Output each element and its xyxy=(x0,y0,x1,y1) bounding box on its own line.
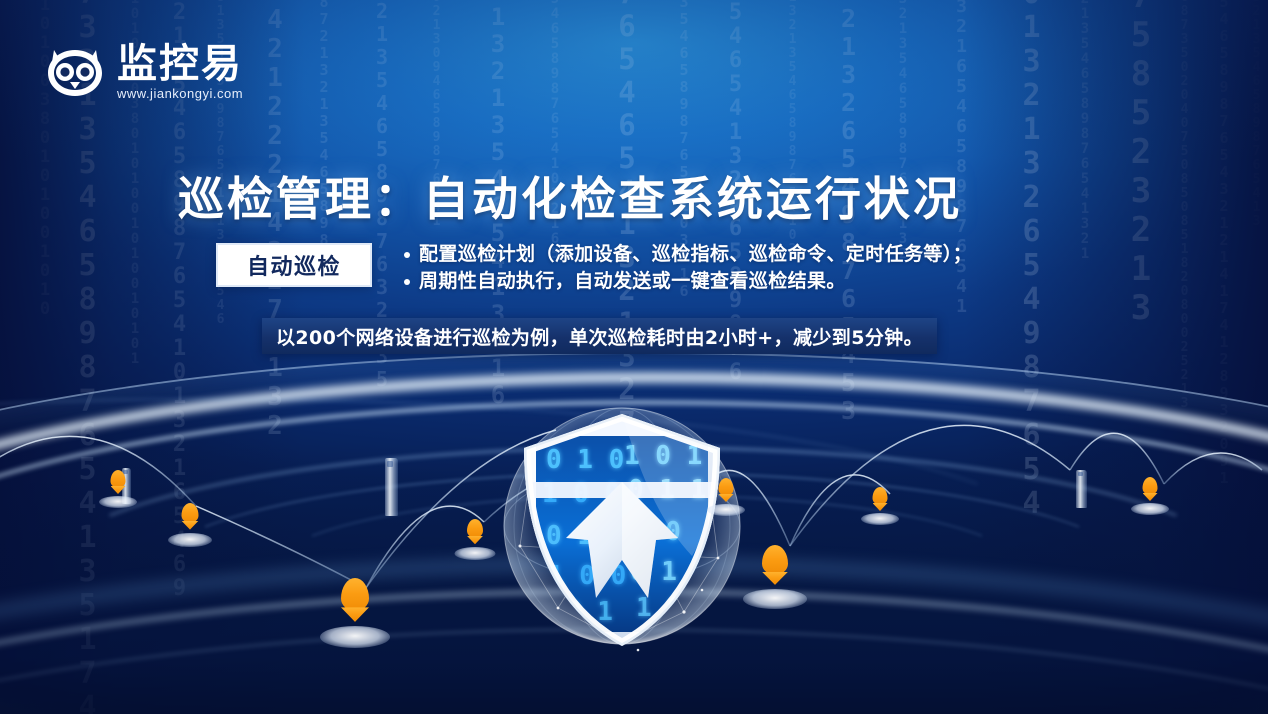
bullet-dot-icon xyxy=(404,279,410,285)
server-pillar-1 xyxy=(122,468,131,504)
pin-base-glow xyxy=(99,496,137,508)
map-pin-2 xyxy=(168,503,212,547)
feature-bullet-item: 配置巡检计划（添加设备、巡检指标、巡检命令、定时任务等）； xyxy=(404,241,972,268)
pin-marker-icon xyxy=(762,545,788,575)
pin-base-glow xyxy=(743,589,807,609)
brand-logo[interactable]: 监控易 www.jiankongyi.com xyxy=(44,44,243,101)
owl-face-icon xyxy=(44,44,106,100)
pin-base-glow xyxy=(168,533,212,547)
logo-website-url: www.jiankongyi.com xyxy=(117,86,243,101)
map-pin-1 xyxy=(99,470,137,508)
map-pin-7 xyxy=(861,487,899,525)
highlight-banner: 以200个网络设备进行巡检为例，单次巡检耗时由2小时+，减少到5分钟。 xyxy=(262,318,937,354)
server-pillar-2 xyxy=(385,458,398,516)
map-pin-8 xyxy=(1131,477,1169,515)
server-pillar-3 xyxy=(1076,470,1087,508)
feature-badge: 自动巡检 xyxy=(216,243,372,287)
pin-base-glow xyxy=(861,513,899,525)
map-pin-3 xyxy=(320,578,390,648)
page-title: 巡检管理：自动化检查系统运行状况 xyxy=(178,163,962,229)
pin-marker-icon xyxy=(873,487,888,505)
logo-brand-name: 监控易 xyxy=(117,44,243,85)
pin-marker-icon xyxy=(1143,477,1158,495)
binary-digit-column: 3213546589876541321 xyxy=(1078,0,1092,261)
map-pin-4 xyxy=(455,519,496,560)
feature-bullet-list: 配置巡检计划（添加设备、巡检指标、巡检命令、定时任务等）；周期性自动执行，自动发… xyxy=(404,240,972,295)
pin-marker-icon xyxy=(182,503,199,523)
pin-marker-icon xyxy=(467,519,483,538)
feature-badge-label: 自动巡检 xyxy=(247,249,341,281)
feature-bullet-item: 周期性自动执行，自动发送或一键查看巡检结果。 xyxy=(404,268,972,295)
pin-marker-icon xyxy=(341,578,369,611)
binary-digit-column: 132135465898765413 xyxy=(1250,0,1263,228)
binary-digit-column: 9687350204075085085182080025213 xyxy=(1178,0,1191,410)
pin-marker-icon xyxy=(111,470,126,488)
binary-digit-column: 354658987654321214174128932091 xyxy=(1216,0,1231,486)
highlight-banner-text: 以200个网络设备进行巡检为例，单次巡检耗时由2小时+，减少到5分钟。 xyxy=(276,323,923,350)
feature-row: 自动巡检 配置巡检计划（添加设备、巡检指标、巡检命令、定时任务等）；周期性自动执… xyxy=(216,240,972,295)
binary-digit-column: 7321354658987654135174127528396345 xyxy=(72,0,102,714)
bullet-dot-icon xyxy=(404,252,410,258)
feature-bullet-text: 配置巡检计划（添加设备、巡检指标、巡检命令、定时任务等）； xyxy=(419,241,972,268)
feature-bullet-text: 周期性自动执行，自动发送或一键查看巡检结果。 xyxy=(419,268,846,295)
pin-base-glow xyxy=(455,547,496,560)
security-shield-emblem: 0 1 0 1 0 1 1 0 0 0 1 1 0 1 1 0 1 0 0 0 … xyxy=(496,398,748,660)
pin-base-glow xyxy=(320,626,390,648)
pin-base-glow xyxy=(1131,503,1169,515)
map-pin-6 xyxy=(743,545,807,609)
slide-canvas: 0101003801010010107321354658987654135174… xyxy=(0,0,1268,714)
binary-digit-column: 0132132654987654 xyxy=(1016,0,1046,520)
binary-digit-column: 758523213 xyxy=(1124,0,1158,327)
